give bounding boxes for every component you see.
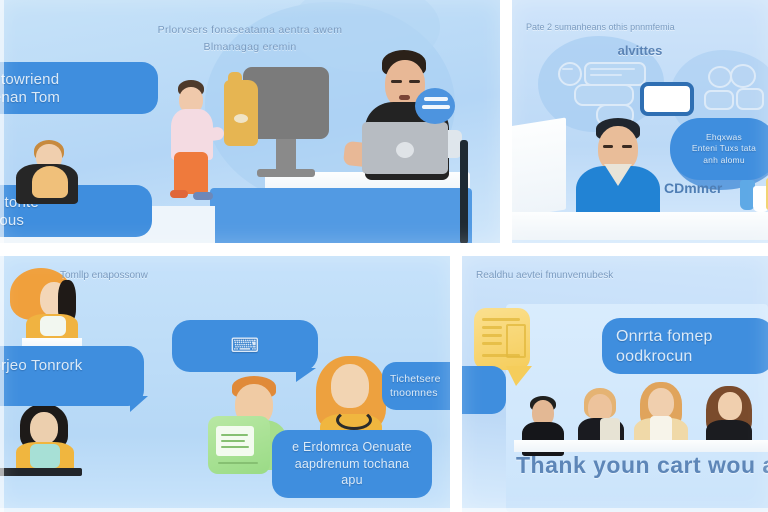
monitor-stand <box>276 139 296 173</box>
doc-line <box>221 446 249 448</box>
bubble-right-headline[interactable]: Onrrta fomep oodkrocun <box>602 318 768 374</box>
gutter-vertical <box>500 0 512 248</box>
monitor-edge <box>460 140 468 243</box>
counter-bar <box>0 468 82 476</box>
bubble-line: abnou <box>462 375 492 390</box>
frame-edge-bottom <box>0 508 768 512</box>
panel-br-big-caption: Thank youn cart wou a s <box>516 452 768 479</box>
agent-eye-right <box>622 145 632 148</box>
bubble-line: Tihenan Tom <box>0 88 144 106</box>
bubble-line: Oontowriend <box>0 70 144 88</box>
agent-eye-left <box>603 145 613 148</box>
bubble-left-edge[interactable]: abnou cuaso <box>462 366 506 414</box>
bubble-line: e Erdomrca Oenuate <box>292 439 412 456</box>
bubble-icon <box>730 64 756 88</box>
bubble-left-ticket[interactable]: l'd Corjeo Tonrork all <box>0 346 144 406</box>
counter-surface <box>512 212 768 240</box>
bubble-line: cuaso <box>462 390 492 405</box>
monitor-base <box>257 169 315 177</box>
panel-top-left: Prlorvsers fonaseatama aentra awem Blman… <box>0 0 500 243</box>
bubble-line: apu <box>341 472 362 489</box>
contact-icon <box>736 88 764 110</box>
panel-tl-caption-line-2: Blmanagag eremin <box>0 41 500 53</box>
bubble-line: Ehqxwas <box>706 132 742 143</box>
folder-icon <box>224 80 258 146</box>
headset-band <box>562 68 573 70</box>
keyboard-row-2 <box>590 74 622 76</box>
panel-tl-caption-line-1: Prlorvsers fonaseatama aentra awem <box>0 24 500 36</box>
person-necklace <box>336 410 372 430</box>
bubble-lower-center[interactable]: e Erdomrca Oenuate aapdrenum tochana apu <box>272 430 432 498</box>
bubble-left-tail <box>130 396 148 412</box>
screen-icon <box>640 82 694 116</box>
doc-line <box>221 440 245 442</box>
bubble-center-icon[interactable]: ⌨ <box>172 320 318 372</box>
person-foot-left <box>170 190 188 198</box>
badge-line-2 <box>422 105 450 109</box>
keyboard-glyph-icon: ⌨ <box>230 333 259 360</box>
desk-front <box>210 188 472 243</box>
doc-line <box>221 434 248 436</box>
bubble-right-small[interactable]: Tichetsere tnoomnes <box>382 362 450 410</box>
bubble-line: oodkrocun <box>616 346 760 366</box>
doc-line <box>482 342 502 345</box>
person-shoulder-highlight <box>32 166 68 198</box>
agent-eye-right <box>409 80 420 83</box>
panel-bottom-left: l'd Corjeo Tonrork all ⌨ Tichetsere tnoo… <box>0 256 450 512</box>
gutter-vertical-lower <box>450 256 462 512</box>
bubble-line: l'd Corjeo Tonrork <box>0 356 130 376</box>
doc-line <box>482 354 520 357</box>
person-scarf <box>30 444 60 468</box>
person-head <box>30 412 58 444</box>
doc-line <box>482 318 520 321</box>
agent-mouth <box>399 95 410 100</box>
folder-dot <box>234 114 248 123</box>
bubble-center-tail <box>296 368 316 382</box>
seated-person-back <box>12 140 82 210</box>
frame-edge-left <box>0 0 4 512</box>
panel-top-right: Ehqxwas Enteni Tuxs tata anh alomu Pate … <box>512 0 768 243</box>
yellow-document-bubble[interactable] <box>474 308 530 370</box>
laptop-logo <box>396 142 414 158</box>
bubble-line: aapdrenum tochana <box>295 456 410 473</box>
doc-line <box>482 334 502 337</box>
standing-person <box>168 80 218 200</box>
panel-tr-caption-line-1: Pate 2 sumanheans othis pnnmfemia <box>526 22 768 32</box>
bubble-line: Enteni Tuxs tata <box>692 143 756 154</box>
folder-tab <box>228 72 242 84</box>
bubble-line: all <box>0 376 130 396</box>
bubble-line: Tichetsere <box>390 372 450 386</box>
person-head <box>718 392 742 420</box>
person-foot-right <box>193 192 213 200</box>
agent-eye-left <box>391 80 402 83</box>
keyboard-row-1 <box>590 68 635 70</box>
mug-stack <box>740 176 768 216</box>
bubble-line: anh alomu <box>703 155 745 166</box>
gutter-horizontal <box>0 243 768 256</box>
doc-line <box>482 326 502 329</box>
doc-chart-icon <box>506 324 526 358</box>
headset-icon <box>558 62 582 86</box>
bubble-line: tnoomnes <box>390 386 450 400</box>
person-collar <box>40 316 66 336</box>
panel-bottom-right: abnou cuaso Onrrta fomep oodkrocun <box>462 256 768 512</box>
counter <box>514 440 768 452</box>
team-row-four-people <box>514 382 768 452</box>
label-channel: CDmmer <box>664 180 722 196</box>
doc-line <box>218 462 258 464</box>
green-laptop-icon <box>208 416 270 474</box>
gear-icon <box>708 66 732 88</box>
card-icon <box>574 84 634 106</box>
person-head <box>648 388 674 418</box>
bubble-customer-chat[interactable]: Oontowriend Tihenan Tom <box>0 62 158 114</box>
person-legs <box>174 152 208 194</box>
panel-br-caption: Realdhu aevtei fmunvemubesk <box>476 270 756 281</box>
person-head <box>331 364 369 408</box>
laptop-icon <box>358 122 452 180</box>
illustration-canvas: Prlorvsers fonaseatama aentra awem Blman… <box>0 0 768 512</box>
chart-icon <box>704 90 734 110</box>
bubble-line: A/aBous <box>0 211 138 229</box>
panel-tr-caption-line-2: alvittes <box>512 43 768 58</box>
panel-bl-caption: Tomllp enapossonw <box>60 270 220 281</box>
workstation-panel <box>512 117 566 218</box>
woman-dark-hair <box>14 404 80 482</box>
bubble-line: Onrrta fomep <box>616 326 760 346</box>
bubble-cloud-note[interactable]: Ehqxwas Enteni Tuxs tata anh alomu <box>670 118 768 180</box>
badge-line-1 <box>424 97 448 101</box>
